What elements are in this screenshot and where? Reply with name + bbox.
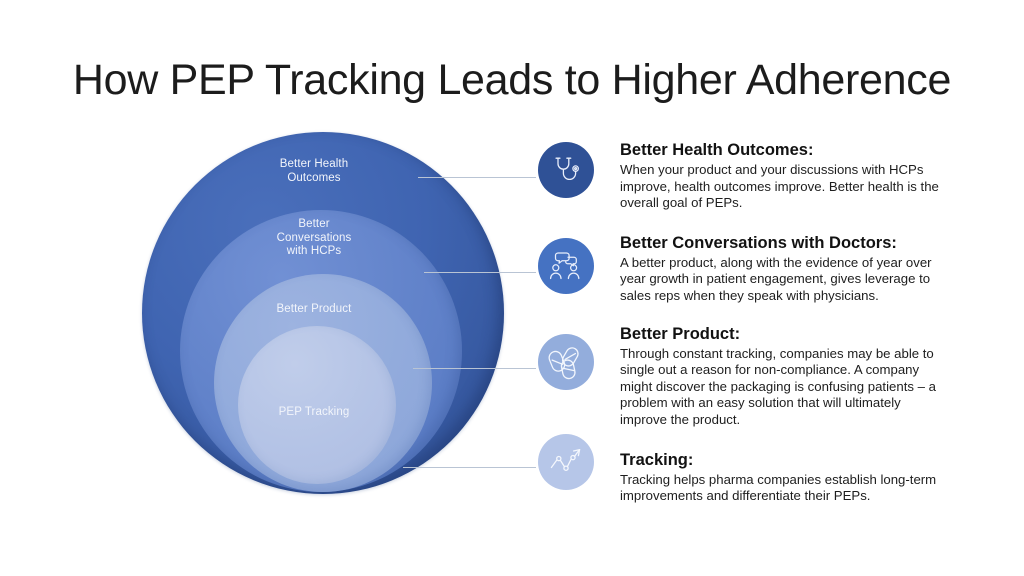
body-tracking: Tracking helps pharma companies establis… [620, 472, 950, 505]
concentric-circle-diagram: Better HealthOutcomes BetterConversation… [128, 128, 500, 500]
content-block-better-health-outcomes: Better Health Outcomes: When your produc… [620, 140, 950, 212]
ring-pep-tracking [238, 326, 396, 484]
conversation-icon [548, 248, 584, 284]
heading-tracking: Tracking: [620, 450, 950, 471]
content-block-better-product: Better Product: Through constant trackin… [620, 324, 950, 429]
content-column: Better Health Outcomes: When your produc… [620, 140, 950, 521]
body-better-conversations: A better product, along with the evidenc… [620, 255, 950, 305]
trend-chart-icon-badge [538, 434, 594, 490]
connector-line-conversations [424, 272, 536, 273]
content-block-tracking: Tracking: Tracking helps pharma companie… [620, 450, 950, 505]
connector-line-product [413, 368, 536, 369]
pills-icon [548, 344, 584, 380]
stethoscope-icon-badge [538, 142, 594, 198]
connector-line-outcomes [418, 177, 536, 178]
pills-icon-badge [538, 334, 594, 390]
page-title: How PEP Tracking Leads to Higher Adheren… [0, 56, 1024, 105]
heading-better-conversations: Better Conversations with Doctors: [620, 233, 950, 254]
heading-better-health-outcomes: Better Health Outcomes: [620, 140, 950, 161]
heading-better-product: Better Product: [620, 324, 950, 345]
content-block-better-conversations: Better Conversations with Doctors: A bet… [620, 233, 950, 305]
trend-chart-icon [548, 444, 584, 480]
body-better-product: Through constant tracking, companies may… [620, 346, 950, 429]
stethoscope-icon [549, 153, 583, 187]
body-better-health-outcomes: When your product and your discussions w… [620, 162, 950, 212]
conversation-icon-badge [538, 238, 594, 294]
connector-line-tracking [403, 467, 536, 468]
